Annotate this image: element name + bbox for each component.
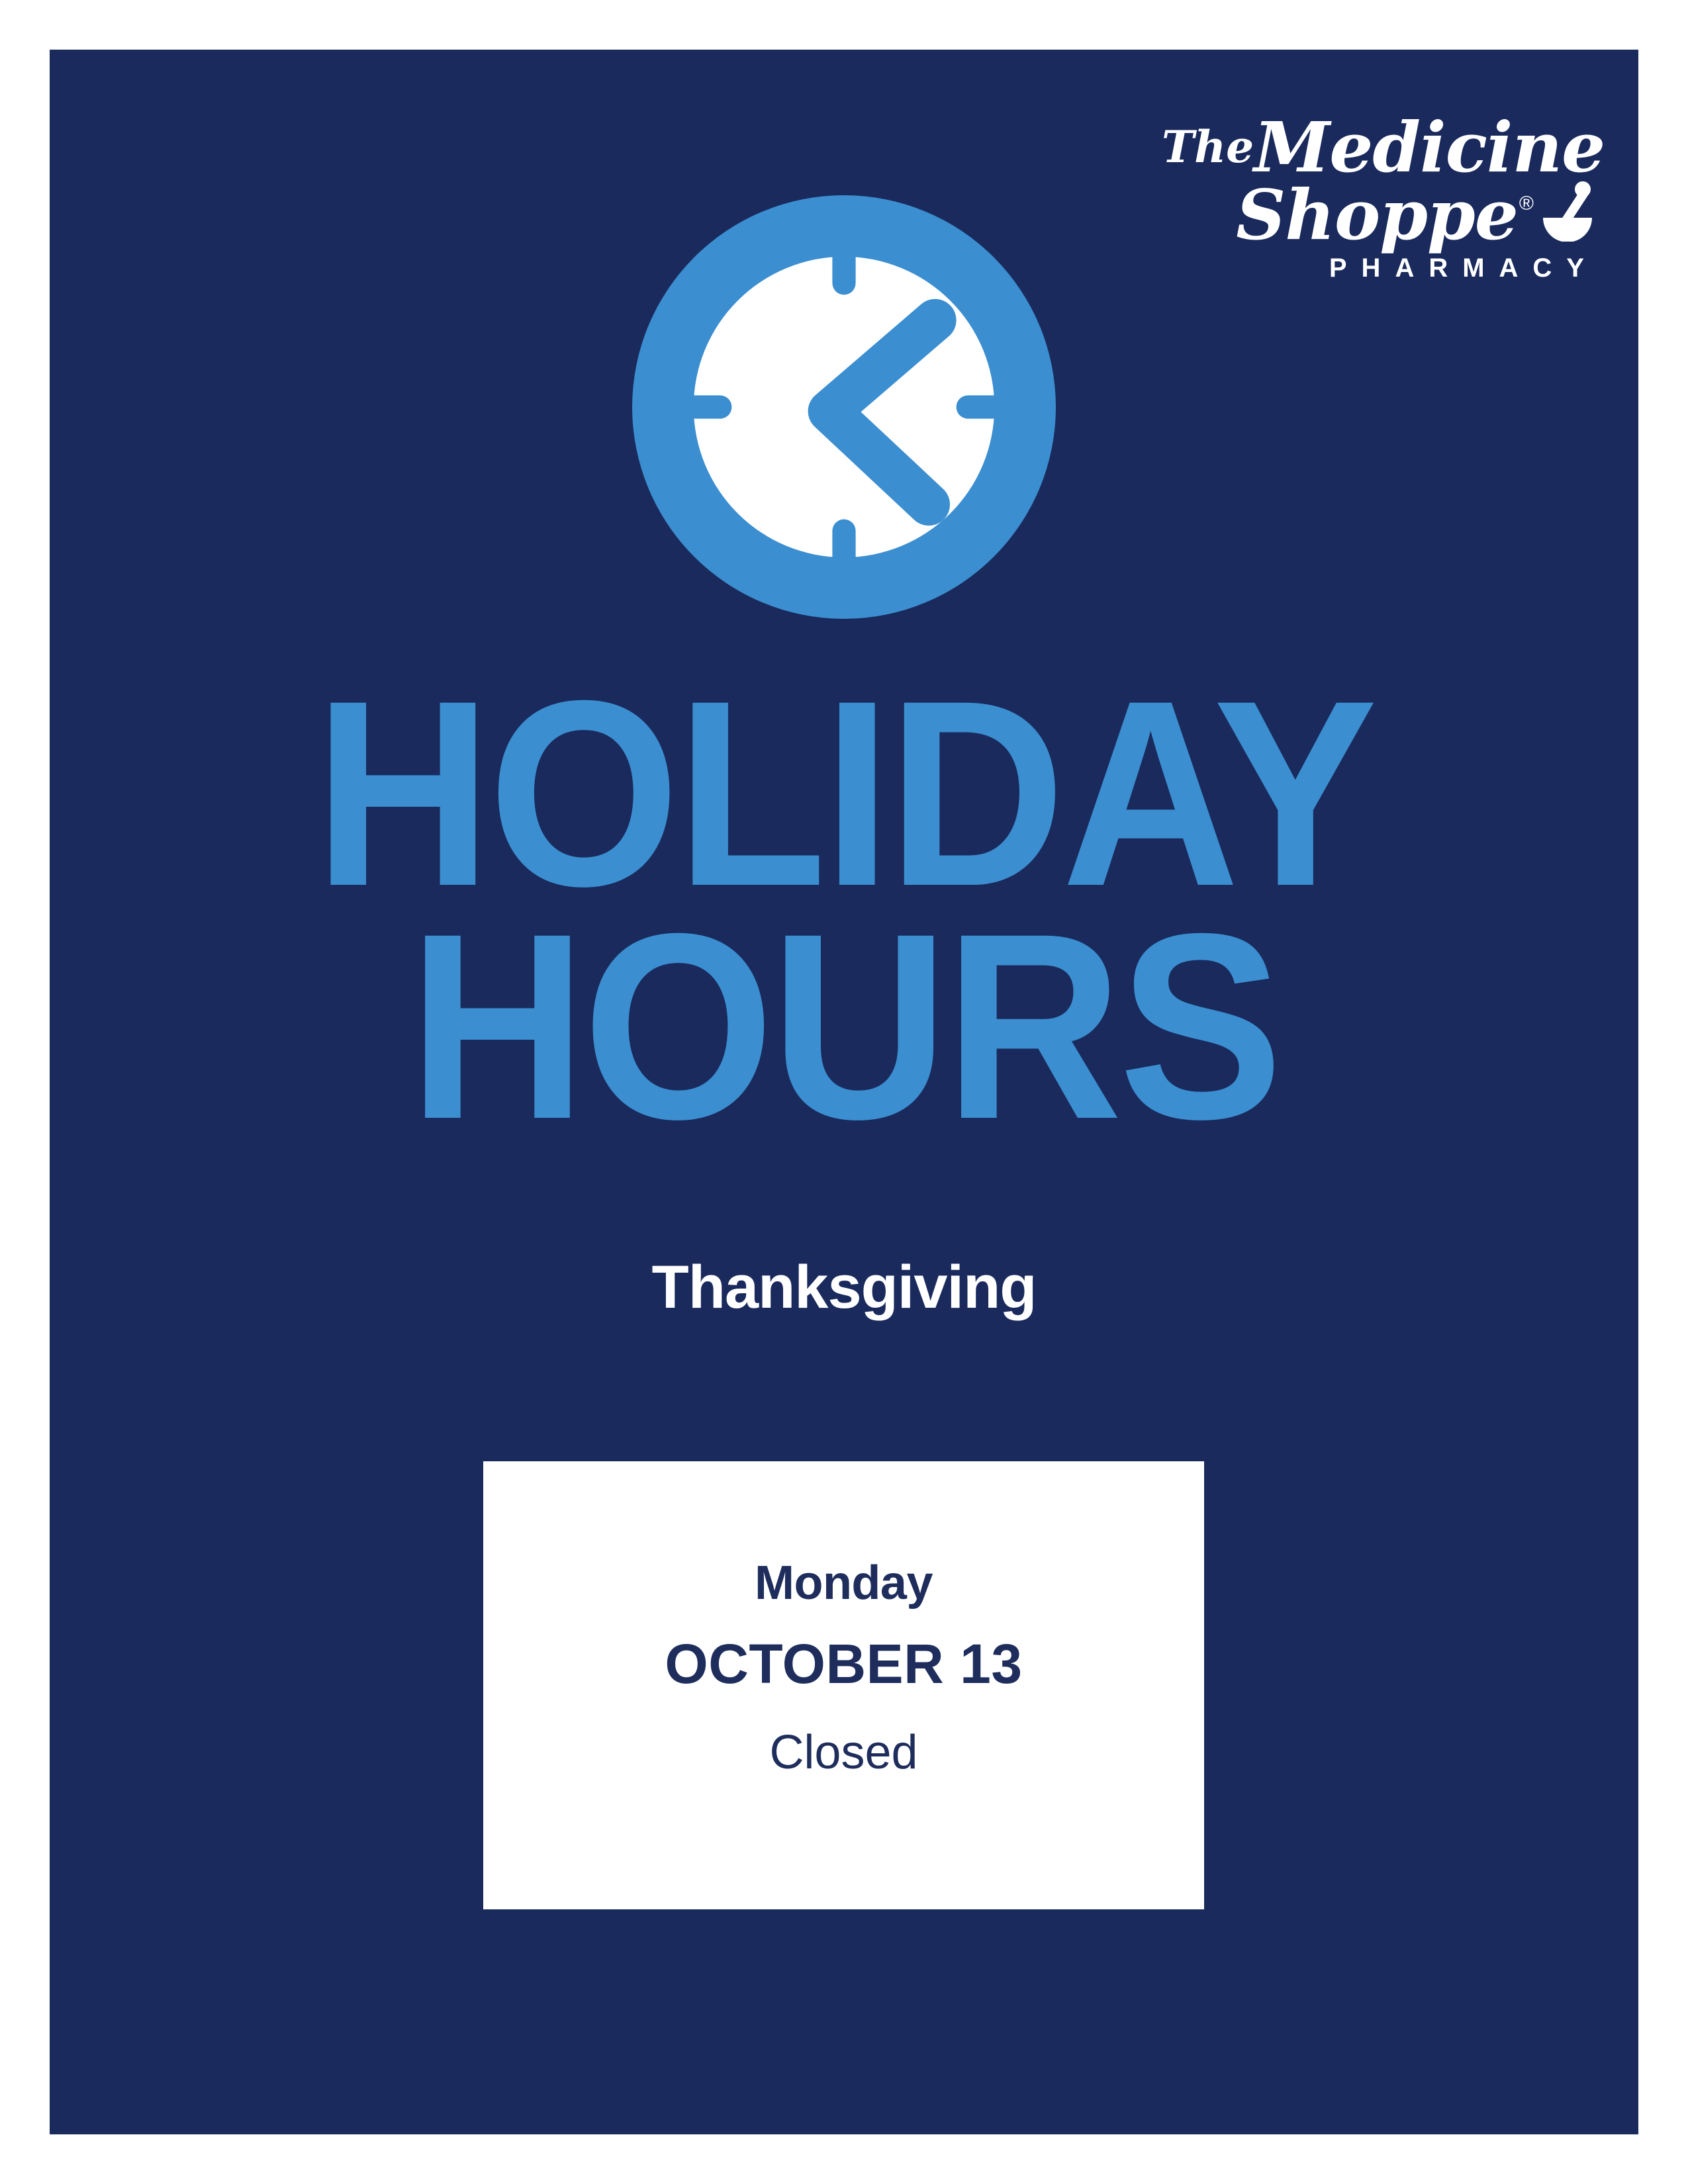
holiday-name: Thanksgiving	[50, 1254, 1638, 1321]
page-title: HOLIDAY HOURS	[50, 678, 1638, 1142]
hours-card: Monday OCTOBER 13 Closed	[483, 1461, 1204, 1909]
headline-line-holiday: HOLIDAY	[105, 678, 1583, 909]
hours-card-date: OCTOBER 13	[665, 1636, 1022, 1692]
poster-panel: TheMedicine Shoppe ®	[50, 50, 1638, 2134]
clock-icon-container	[50, 195, 1638, 619]
poster-page: TheMedicine Shoppe ®	[0, 0, 1688, 2184]
hours-card-status: Closed	[769, 1729, 917, 1776]
clock-icon	[632, 195, 1056, 619]
logo-medicine-line: TheMedicine	[1162, 116, 1599, 179]
logo-the-word: The	[1162, 121, 1254, 173]
hours-card-day: Monday	[755, 1559, 933, 1607]
headline-line-hours: HOURS	[105, 911, 1583, 1142]
